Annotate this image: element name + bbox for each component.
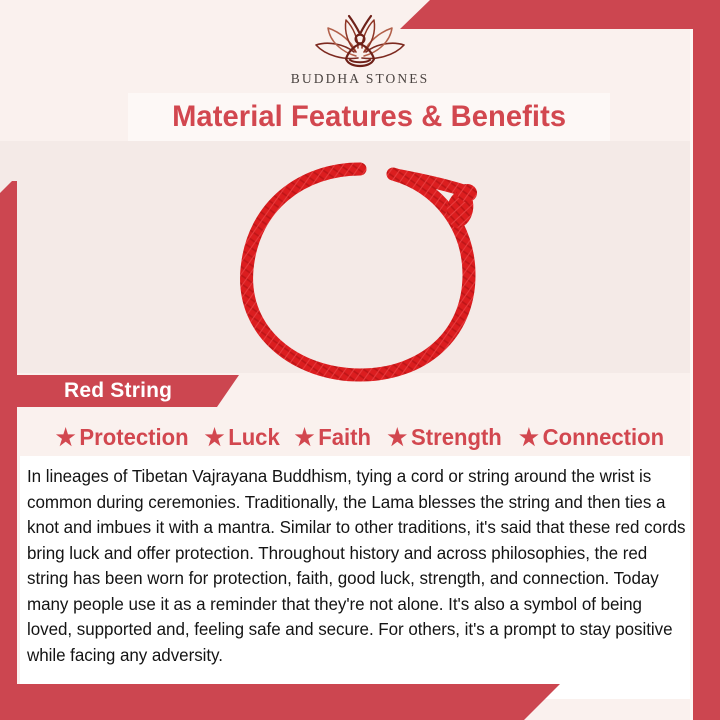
benefit-label: Protection (79, 424, 188, 451)
title-banner: Material Features & Benefits (128, 93, 610, 141)
star-icon: ★ (519, 426, 539, 449)
product-name-ribbon: Red String (17, 375, 239, 407)
benefits-row: ★ Protection ★ Luck ★ Faith ★ Strength ★… (17, 419, 703, 455)
decor-bar-right (693, 29, 720, 720)
decor-hairline-right (690, 29, 693, 720)
decor-band-bottom-left (0, 684, 560, 720)
star-icon: ★ (387, 426, 407, 449)
benefit-item: ★ Protection (50, 424, 194, 451)
star-icon: ★ (205, 426, 225, 449)
benefit-label: Connection (543, 424, 664, 451)
brand-wordmark: BUDDHA STONES (291, 71, 429, 87)
lotus-meditation-icon (308, 14, 412, 70)
description-block: In lineages of Tibetan Vajrayana Buddhis… (20, 456, 702, 699)
brand-logo: BUDDHA STONES (0, 0, 720, 96)
page-title: Material Features & Benefits (172, 100, 566, 134)
red-braided-string-bracelet-icon (225, 157, 495, 387)
benefit-label: Faith (319, 424, 372, 451)
description-text: In lineages of Tibetan Vajrayana Buddhis… (27, 464, 687, 668)
benefit-label: Luck (228, 424, 280, 451)
benefit-item: ★ Faith (289, 424, 377, 451)
poster-root: BUDDHA STONES Material Features & Benefi… (0, 0, 720, 720)
benefit-item: ★ Connection (513, 424, 670, 451)
benefit-label: Strength (411, 424, 502, 451)
decor-bar-left (0, 181, 17, 684)
product-name-label: Red String (17, 379, 172, 403)
benefit-item: ★ Luck (199, 424, 286, 451)
star-icon: ★ (55, 426, 75, 449)
star-icon: ★ (295, 426, 315, 449)
product-image (0, 152, 720, 392)
benefit-item: ★ Strength (382, 424, 508, 451)
